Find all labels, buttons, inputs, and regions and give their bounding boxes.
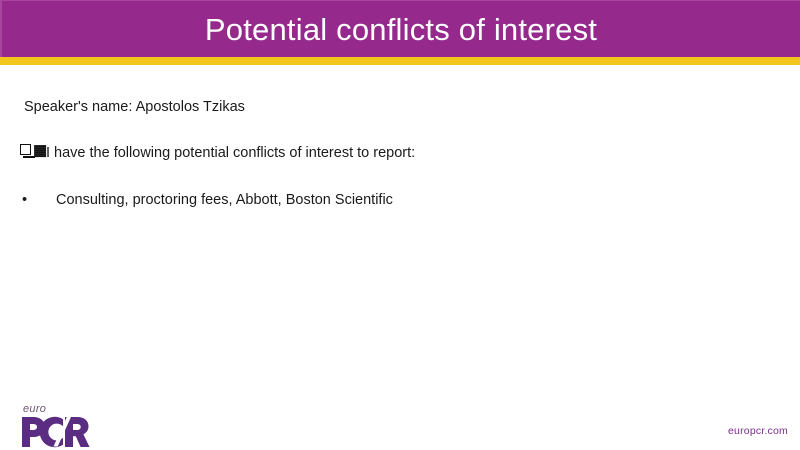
- logo-pcr-mark: [21, 416, 93, 448]
- speaker-name-line: Speaker's name: Apostolos Tzikas: [24, 99, 245, 115]
- slide-title-band: Potential conflicts of interest: [0, 0, 800, 57]
- conflict-declaration-label: I have the following potential conflicts…: [46, 145, 415, 161]
- list-item-label: Consulting, proctoring fees, Abbott, Bos…: [56, 192, 393, 208]
- logo-euro-text: euro: [23, 404, 46, 415]
- europcr-logo: euro: [21, 404, 93, 446]
- slide-body: Speaker's name: Apostolos Tzikas I have …: [0, 65, 800, 385]
- page-title: Potential conflicts of interest: [205, 14, 597, 45]
- list-item: • Consulting, proctoring fees, Abbott, B…: [22, 192, 393, 208]
- bullet-point-icon: •: [22, 193, 56, 208]
- empty-checkbox-icon: [20, 144, 36, 157]
- website-url[interactable]: europcr.com: [728, 425, 788, 437]
- accent-divider-bar: [0, 57, 800, 65]
- conflict-declaration-row: I have the following potential conflicts…: [20, 144, 415, 161]
- slide-canvas: Potential conflicts of interest Speaker'…: [0, 0, 800, 450]
